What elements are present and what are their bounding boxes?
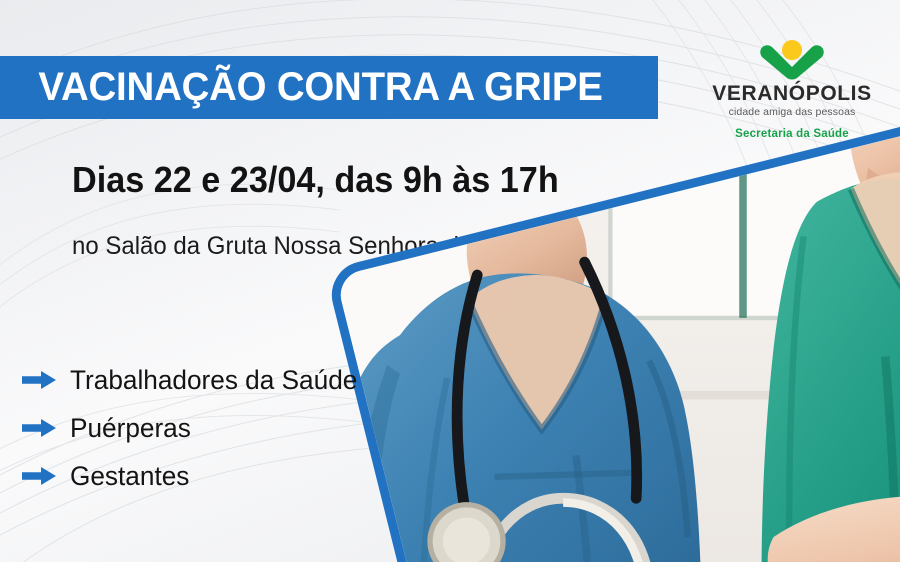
- logo-tagline: cidade amiga das pessoas: [706, 107, 878, 118]
- veranopolis-logo-icon: [758, 38, 826, 80]
- logo-wordmark: VERANÓPOLIS: [706, 83, 878, 105]
- arrow-right-icon: [22, 418, 56, 438]
- list-item-label: Trabalhadores da Saúde: [70, 365, 357, 396]
- list-item: Trabalhadores da Saúde: [22, 356, 366, 404]
- list-item-label: Gestantes: [70, 461, 189, 492]
- arrow-right-icon: [22, 370, 56, 390]
- event-date-line: Dias 22 e 23/04, das 9h às 17h: [72, 159, 559, 201]
- list-item: Gestantes: [22, 452, 366, 500]
- audience-list: Trabalhadores da Saúde Puérperas Gestant…: [22, 356, 366, 500]
- list-item-label: Puérperas: [70, 413, 191, 444]
- page-title: VACINAÇÃO CONTRA A GRIPE: [0, 65, 603, 110]
- arrow-right-icon: [22, 466, 56, 486]
- list-item: Puérperas: [22, 404, 366, 452]
- poster-canvas: VACINAÇÃO CONTRA A GRIPE VERANÓPOLIS cid…: [0, 0, 900, 562]
- veranopolis-logo: VERANÓPOLIS cidade amiga das pessoas Sec…: [706, 38, 878, 140]
- title-banner: VACINAÇÃO CONTRA A GRIPE: [0, 56, 658, 119]
